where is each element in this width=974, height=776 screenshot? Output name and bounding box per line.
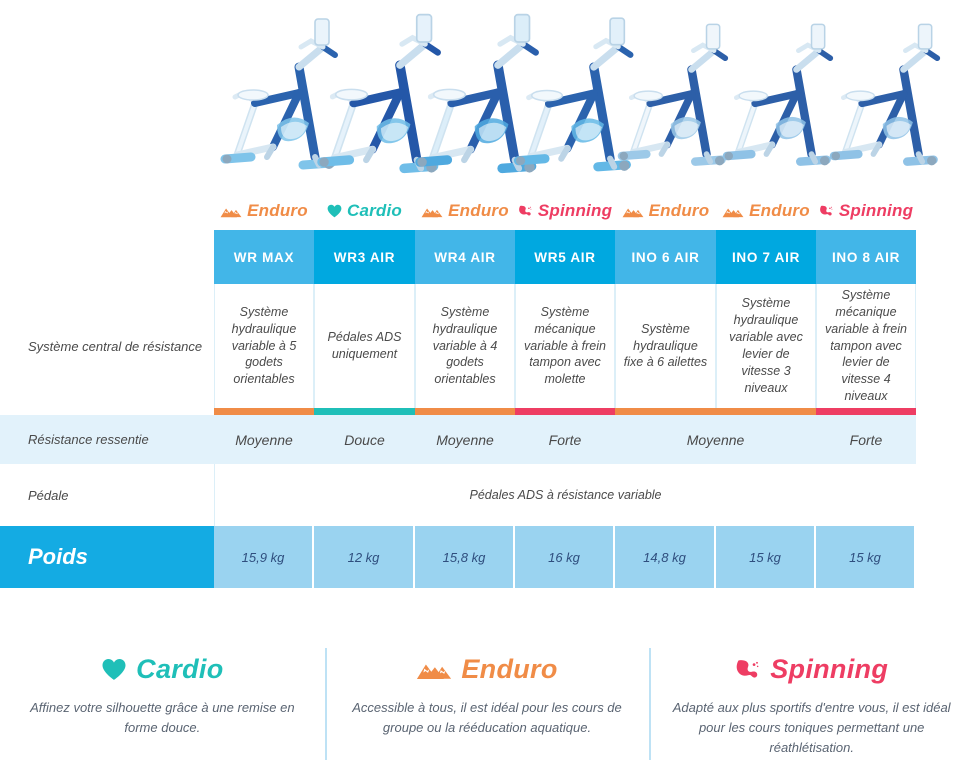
accent-bar-2 bbox=[415, 408, 515, 415]
legend-item-spinning: SpinningAdapté aux plus sportifs d'entre… bbox=[649, 636, 974, 776]
bicep-icon bbox=[518, 204, 533, 218]
bike-image-6 bbox=[817, 13, 958, 178]
row-label-felt-resistance: Résistance ressentie bbox=[0, 415, 214, 464]
mountain-icon bbox=[421, 205, 443, 218]
column-header-wr-max[interactable]: WR MAX bbox=[214, 230, 314, 284]
heart-icon bbox=[327, 204, 342, 218]
mountain-icon bbox=[421, 205, 443, 218]
column-header-ino-8-air[interactable]: INO 8 AIR bbox=[816, 230, 916, 284]
accent-bar-row bbox=[0, 408, 974, 415]
mountain-icon bbox=[220, 205, 242, 218]
row-pedal: PédalePédales ADS à résistance variable bbox=[0, 464, 974, 526]
cell-felt-resistance-1: Douce bbox=[314, 415, 415, 464]
product-image-strip bbox=[0, 0, 974, 192]
accent-bar-3 bbox=[515, 408, 615, 415]
cell-weight-4: 14,8 kg bbox=[615, 526, 714, 588]
mountain-icon bbox=[416, 659, 452, 680]
cell-weight-0: 15,9 kg bbox=[214, 526, 312, 588]
category-label-enduro-0: Enduro bbox=[214, 192, 314, 230]
legend-heading: Enduro bbox=[416, 654, 557, 685]
legend-description: Accessible à tous, il est idéal pour les… bbox=[347, 698, 628, 738]
comparison-table: WR MAXWR3 AIRWR4 AIRWR5 AIRINO 6 AIRINO … bbox=[0, 230, 974, 588]
cell-resistance-system-1: Pédales ADS uniquement bbox=[314, 284, 415, 408]
cell-weight-6: 15 kg bbox=[816, 526, 914, 588]
cell-felt-resistance-3: Forte bbox=[515, 415, 615, 464]
category-name: Spinning bbox=[839, 201, 913, 221]
legend-item-enduro: EnduroAccessible à tous, il est idéal po… bbox=[325, 636, 650, 776]
column-header-wr5-air[interactable]: WR5 AIR bbox=[515, 230, 615, 284]
legend-title: Spinning bbox=[770, 654, 888, 685]
category-label-spinning-6: Spinning bbox=[816, 192, 916, 230]
bicep-icon bbox=[735, 657, 761, 682]
accent-bar-1 bbox=[314, 408, 415, 415]
category-label-spinning-3: Spinning bbox=[515, 192, 615, 230]
column-header-wr4-air[interactable]: WR4 AIR bbox=[415, 230, 515, 284]
category-name: Enduro bbox=[749, 201, 810, 221]
category-name: Spinning bbox=[538, 201, 612, 221]
cell-resistance-system-3: Système mécanique variable à frein tampo… bbox=[515, 284, 615, 408]
bicep-icon bbox=[819, 204, 834, 218]
legend-item-cardio: CardioAffinez votre silhouette grâce à u… bbox=[0, 636, 325, 776]
cell-felt-resistance-2: Moyenne bbox=[415, 415, 515, 464]
legend-description: Adapté aux plus sportifs d'entre vous, i… bbox=[671, 698, 952, 758]
column-header-ino-7-air[interactable]: INO 7 AIR bbox=[716, 230, 816, 284]
category-name: Cardio bbox=[347, 201, 402, 221]
cell-felt-resistance-0: Moyenne bbox=[214, 415, 314, 464]
legend-description: Affinez votre silhouette grâce à une rem… bbox=[22, 698, 303, 738]
cell-weight-3: 16 kg bbox=[515, 526, 613, 588]
table-header-row: WR MAXWR3 AIRWR4 AIRWR5 AIRINO 6 AIRINO … bbox=[0, 230, 974, 284]
cell-weight-1: 12 kg bbox=[314, 526, 413, 588]
row-resistance-system: Système central de résistanceSystème hyd… bbox=[0, 284, 974, 408]
accent-bar-5 bbox=[816, 408, 916, 415]
row-label-pedal: Pédale bbox=[0, 464, 214, 526]
legend-section: CardioAffinez votre silhouette grâce à u… bbox=[0, 636, 974, 776]
comparison-page: Enduro Cardio Enduro Spinning Enduro End… bbox=[0, 0, 974, 776]
heart-icon bbox=[101, 658, 127, 681]
row-weight: Poids15,9 kg12 kg15,8 kg16 kg14,8 kg15 k… bbox=[0, 526, 974, 588]
heart-icon bbox=[327, 204, 342, 218]
row-label-weight: Poids bbox=[0, 526, 214, 588]
column-header-wr3-air[interactable]: WR3 AIR bbox=[314, 230, 415, 284]
cell-resistance-system-0: Système hydraulique variable à 5 godets … bbox=[214, 284, 314, 408]
cell-weight-5: 15 kg bbox=[716, 526, 814, 588]
legend-title: Cardio bbox=[136, 654, 223, 685]
column-header-ino-6-air[interactable]: INO 6 AIR bbox=[615, 230, 716, 284]
bicep-icon bbox=[819, 204, 834, 218]
category-name: Enduro bbox=[247, 201, 308, 221]
legend-heading: Spinning bbox=[735, 654, 888, 685]
category-label-enduro-2: Enduro bbox=[415, 192, 515, 230]
category-name: Enduro bbox=[649, 201, 710, 221]
row-label-resistance-system: Système central de résistance bbox=[0, 284, 214, 408]
category-name: Enduro bbox=[448, 201, 509, 221]
cell-weight-2: 15,8 kg bbox=[415, 526, 513, 588]
mountain-icon bbox=[416, 659, 452, 680]
category-label-band: Enduro Cardio Enduro Spinning Enduro End… bbox=[0, 192, 974, 230]
mountain-icon bbox=[722, 205, 744, 218]
cell-felt-resistance-5: Forte bbox=[816, 415, 916, 464]
row-felt-resistance: Résistance ressentieMoyenneDouceMoyenneF… bbox=[0, 408, 974, 464]
bicep-icon bbox=[735, 657, 761, 682]
cell-pedal-merged: Pédales ADS à résistance variable bbox=[214, 464, 916, 526]
mountain-icon bbox=[722, 205, 744, 218]
category-label-enduro-5: Enduro bbox=[716, 192, 816, 230]
mountain-icon bbox=[622, 205, 644, 218]
cell-resistance-system-6: Système mécanique variable à frein tampo… bbox=[816, 284, 916, 408]
legend-title: Enduro bbox=[461, 654, 557, 685]
legend-heading: Cardio bbox=[101, 654, 223, 685]
cell-resistance-system-2: Système hydraulique variable à 4 godets … bbox=[415, 284, 515, 408]
cell-resistance-system-5: Système hydraulique variable avec levier… bbox=[716, 284, 816, 408]
cell-felt-resistance-4: Moyenne bbox=[615, 415, 816, 464]
category-label-enduro-4: Enduro bbox=[615, 192, 716, 230]
cell-resistance-system-4: Système hydraulique fixe à 6 ailettes bbox=[615, 284, 716, 408]
accent-bar-4 bbox=[615, 408, 816, 415]
mountain-icon bbox=[622, 205, 644, 218]
bike-lineup bbox=[205, 6, 974, 186]
mountain-icon bbox=[220, 205, 242, 218]
category-label-cardio-1: Cardio bbox=[314, 192, 415, 230]
bicep-icon bbox=[518, 204, 533, 218]
accent-bar-0 bbox=[214, 408, 314, 415]
heart-icon bbox=[101, 658, 127, 681]
